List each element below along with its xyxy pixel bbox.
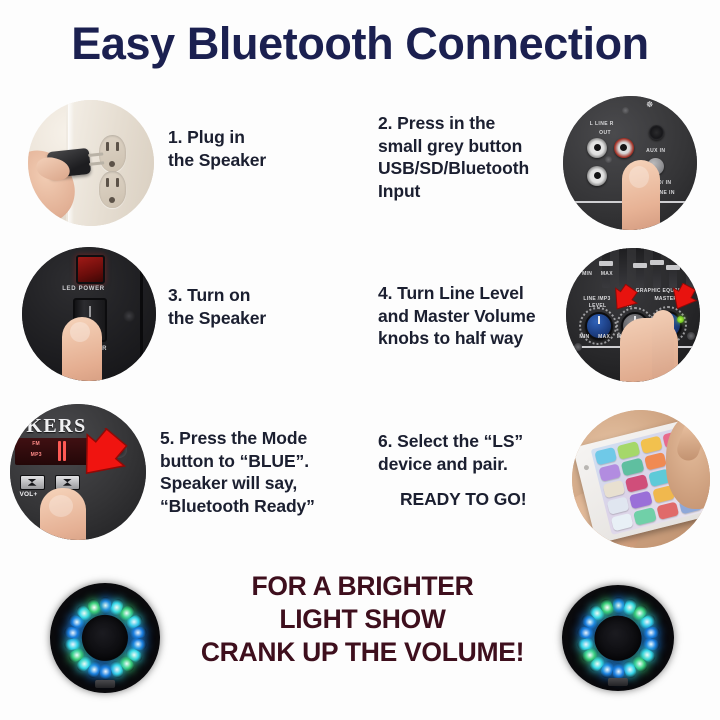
banner-line-1: FOR A BRIGHTER	[175, 570, 550, 603]
red-arrow-line-level	[609, 284, 639, 314]
step-6-line-1: 6. Select the “LS”	[378, 430, 527, 453]
step-5-line-2: button to “BLUE”.	[160, 450, 315, 473]
finger	[62, 317, 102, 381]
step-6-ready-text: READY TO GO!	[378, 488, 527, 511]
speaker-cone	[82, 615, 128, 661]
led-power-label: LED POWER	[62, 286, 105, 292]
bluetooth-icon: ☸	[646, 100, 653, 109]
speaker-cone	[594, 616, 641, 661]
rca-jack-lower-white	[587, 166, 607, 186]
phone-camera	[583, 465, 589, 471]
step-4-line-2: and Master Volume	[378, 305, 535, 328]
out-label: OUT	[599, 130, 611, 136]
banner-text: FOR A BRIGHTER LIGHT SHOW CRANK UP THE V…	[175, 570, 550, 669]
step-6-caption: 6. Select the “LS” device and pair. READ…	[378, 430, 527, 511]
step-2-line-2: small grey button	[378, 135, 529, 158]
step-1-caption: 1. Plug in the Speaker	[168, 126, 266, 171]
speaker-body	[562, 585, 674, 691]
banner-line-3: CRANK UP THE VOLUME!	[175, 636, 550, 669]
step-4-caption: 4. Turn Line Level and Master Volume kno…	[378, 282, 535, 350]
finger	[652, 310, 674, 382]
plug-into-wall-outlet-photo	[28, 100, 154, 226]
banner-line-2: LIGHT SHOW	[175, 603, 550, 636]
page-title: Easy Bluetooth Connection	[0, 18, 720, 70]
step-3-caption: 3. Turn on the Speaker	[168, 284, 266, 329]
infographic-page: Easy Bluetooth Connection 1. Plug in the…	[0, 0, 720, 720]
step-5-caption: 5. Press the Mode button to “BLUE”. Spea…	[160, 427, 315, 517]
led-segment	[100, 663, 111, 680]
led-speaker-right	[562, 585, 674, 691]
line-mp3-label: LINE /MP3	[583, 296, 610, 302]
max-label-top: MAX	[601, 271, 613, 277]
led-segment	[613, 663, 624, 680]
volume-knobs-photo: MIN MAX GRAPHIC EQUALIZER LINE /MP3 LEVE…	[566, 248, 700, 382]
step-2-line-4: Input	[378, 180, 529, 203]
aux-in-label: AUX IN	[646, 148, 665, 154]
step-2-caption: 2. Press in the small grey button USB/SD…	[378, 112, 529, 202]
led-speaker-left	[50, 583, 160, 693]
red-arrow-mode-button	[73, 428, 129, 484]
rca-jack-left-white	[587, 138, 607, 158]
screw-middle	[605, 156, 612, 163]
step-2-line-1: 2. Press in the	[378, 112, 529, 135]
led-segment	[613, 597, 624, 614]
fm-label: FM	[32, 441, 40, 447]
step-5-line-1: 5. Press the Mode	[160, 427, 315, 450]
phone-pairing-photo	[572, 410, 710, 548]
min-label-top: MIN	[582, 271, 592, 277]
power-switch-photo: LED POWER POWER	[22, 247, 156, 381]
step-3-line-1: 3. Turn on	[168, 284, 266, 307]
red-arrow-master-volume	[668, 283, 698, 313]
step-2-line-3: USB/SD/Bluetooth	[378, 157, 529, 180]
finger	[622, 160, 660, 230]
step-4-line-3: knobs to half way	[378, 327, 535, 350]
rca-jack-right-red	[614, 138, 634, 158]
step-1-line-1: 1. Plug in	[168, 126, 266, 149]
speaker-plate	[608, 678, 628, 685]
step-4-line-1: 4. Turn Line Level	[378, 282, 535, 305]
knob-hole	[123, 310, 135, 322]
bottom-banner: FOR A BRIGHTER LIGHT SHOW CRANK UP THE V…	[0, 565, 720, 720]
max-label-1: MAX	[598, 334, 610, 340]
step-5-line-3: Speaker will say,	[160, 472, 315, 495]
step-5-line-4: “Bluetooth Ready”	[160, 495, 315, 518]
line-out-label: L LINE R	[590, 121, 614, 127]
panel-edge	[140, 247, 143, 381]
vol-plus-label: VOL+	[20, 491, 38, 498]
step-1-line-2: the Speaker	[168, 149, 266, 172]
speaker-plate	[95, 680, 115, 688]
step-6-line-2: device and pair.	[378, 453, 527, 476]
min-label-1: MIN	[579, 334, 589, 340]
outlet-socket-bottom	[99, 171, 126, 208]
speaker-body	[50, 583, 160, 693]
mode-button-photo: KERS FM MP3 VOL+ MODE	[10, 404, 146, 540]
led-segment	[100, 597, 111, 614]
steps-grid: 1. Plug in the Speaker 2. Press in the s…	[0, 92, 720, 562]
led-power-indicator	[76, 255, 105, 284]
finger	[40, 488, 86, 540]
input-jack-panel-photo: ☸ L LINE R OUT AUX IN USB/SD/ IN AUX/LIN…	[563, 96, 697, 230]
mp3-label: MP3	[31, 452, 42, 458]
screw-top	[622, 107, 629, 114]
step-3-line-2: the Speaker	[168, 307, 266, 330]
vol-plus-button[interactable]	[20, 475, 45, 490]
